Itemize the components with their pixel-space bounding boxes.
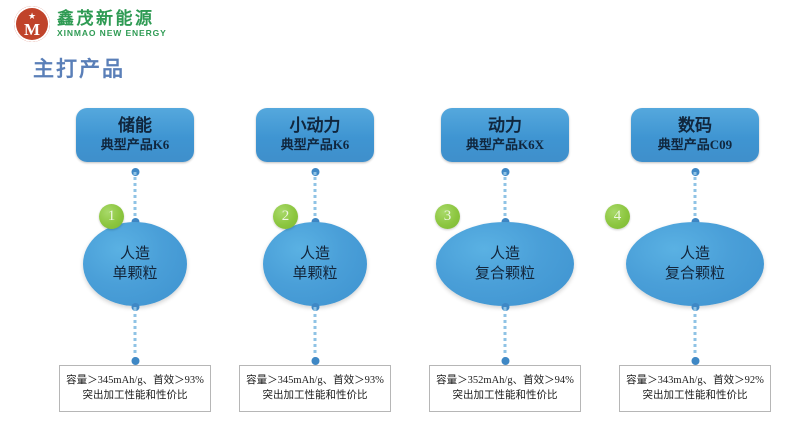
spec-line-4b: 突出加工性能和性价比 xyxy=(624,388,766,403)
bubble-line-3b: 复合颗粒 xyxy=(475,264,535,284)
bubble-line-1a: 人造 xyxy=(120,244,150,264)
spec-line-1b: 突出加工性能和性价比 xyxy=(64,388,206,403)
step-badge-2: 2 xyxy=(273,204,298,229)
product-column-3: 动力 典型产品K6X 人造 复合颗粒 3 容量＞352mAh/g、首效＞94% … xyxy=(405,0,605,431)
product-title-1: 储能 xyxy=(82,115,188,136)
product-column-2: 小动力 典型产品K6 人造 单颗粒 2 容量＞345mAh/g、首效＞93% 突… xyxy=(215,0,415,431)
spec-line-3b: 突出加工性能和性价比 xyxy=(434,388,576,403)
product-header-box-3[interactable]: 动力 典型产品K6X xyxy=(441,108,569,162)
product-bubble-3[interactable]: 人造 复合颗粒 xyxy=(436,222,574,306)
connector-dot-bottom xyxy=(311,357,319,365)
spec-line-3a: 容量＞352mAh/g、首效＞94% xyxy=(434,373,576,388)
step-badge-4: 4 xyxy=(605,204,630,229)
bubble-line-4a: 人造 xyxy=(680,244,710,264)
product-column-1: 储能 典型产品K6 人造 单颗粒 1 容量＞345mAh/g、首效＞93% 突出… xyxy=(35,0,235,431)
product-subtitle-4: 典型产品C09 xyxy=(637,136,753,153)
step-badge-3: 3 xyxy=(435,204,460,229)
product-subtitle-3: 典型产品K6X xyxy=(447,136,563,153)
spec-box-2: 容量＞345mAh/g、首效＞93% 突出加工性能和性价比 xyxy=(239,365,391,412)
connector-line xyxy=(314,172,320,222)
spec-line-4a: 容量＞343mAh/g、首效＞92% xyxy=(624,373,766,388)
connector-line xyxy=(134,172,140,222)
product-title-2: 小动力 xyxy=(262,115,368,136)
product-header-box-4[interactable]: 数码 典型产品C09 xyxy=(631,108,759,162)
bubble-line-3a: 人造 xyxy=(490,244,520,264)
spec-line-1a: 容量＞345mAh/g、首效＞93% xyxy=(64,373,206,388)
connector-dot-bottom xyxy=(131,357,139,365)
connector-line xyxy=(694,307,700,361)
bubble-line-2a: 人造 xyxy=(300,244,330,264)
connector-line xyxy=(504,307,510,361)
spec-line-2a: 容量＞345mAh/g、首效＞93% xyxy=(244,373,386,388)
spec-box-4: 容量＞343mAh/g、首效＞92% 突出加工性能和性价比 xyxy=(619,365,771,412)
product-bubble-4[interactable]: 人造 复合颗粒 xyxy=(626,222,764,306)
connector-lower-2 xyxy=(314,303,317,365)
connector-lower-3 xyxy=(504,303,507,365)
product-header-box-1[interactable]: 储能 典型产品K6 xyxy=(76,108,194,162)
product-columns: 储能 典型产品K6 人造 单颗粒 1 容量＞345mAh/g、首效＞93% 突出… xyxy=(0,0,802,431)
connector-dot-bottom xyxy=(501,357,509,365)
connector-line xyxy=(134,307,140,361)
connector-upper-3 xyxy=(504,168,507,226)
product-title-4: 数码 xyxy=(637,115,753,136)
connector-lower-4 xyxy=(694,303,697,365)
product-bubble-1[interactable]: 人造 单颗粒 xyxy=(83,222,187,306)
spec-line-2b: 突出加工性能和性价比 xyxy=(244,388,386,403)
bubble-line-1b: 单颗粒 xyxy=(112,264,157,284)
product-column-4: 数码 典型产品C09 人造 复合颗粒 4 容量＞343mAh/g、首效＞92% … xyxy=(595,0,795,431)
bubble-line-2b: 单颗粒 xyxy=(292,264,337,284)
connector-line xyxy=(314,307,320,361)
connector-lower-1 xyxy=(134,303,137,365)
connector-line xyxy=(694,172,700,222)
bubble-line-4b: 复合颗粒 xyxy=(665,264,725,284)
product-subtitle-1: 典型产品K6 xyxy=(82,136,188,153)
connector-upper-1 xyxy=(134,168,137,226)
product-header-box-2[interactable]: 小动力 典型产品K6 xyxy=(256,108,374,162)
product-bubble-2[interactable]: 人造 单颗粒 xyxy=(263,222,367,306)
spec-box-1: 容量＞345mAh/g、首效＞93% 突出加工性能和性价比 xyxy=(59,365,211,412)
step-badge-1: 1 xyxy=(99,204,124,229)
product-subtitle-2: 典型产品K6 xyxy=(262,136,368,153)
connector-upper-2 xyxy=(314,168,317,226)
connector-dot-bottom xyxy=(691,357,699,365)
connector-line xyxy=(504,172,510,222)
connector-upper-4 xyxy=(694,168,697,226)
spec-box-3: 容量＞352mAh/g、首效＞94% 突出加工性能和性价比 xyxy=(429,365,581,412)
product-title-3: 动力 xyxy=(447,115,563,136)
